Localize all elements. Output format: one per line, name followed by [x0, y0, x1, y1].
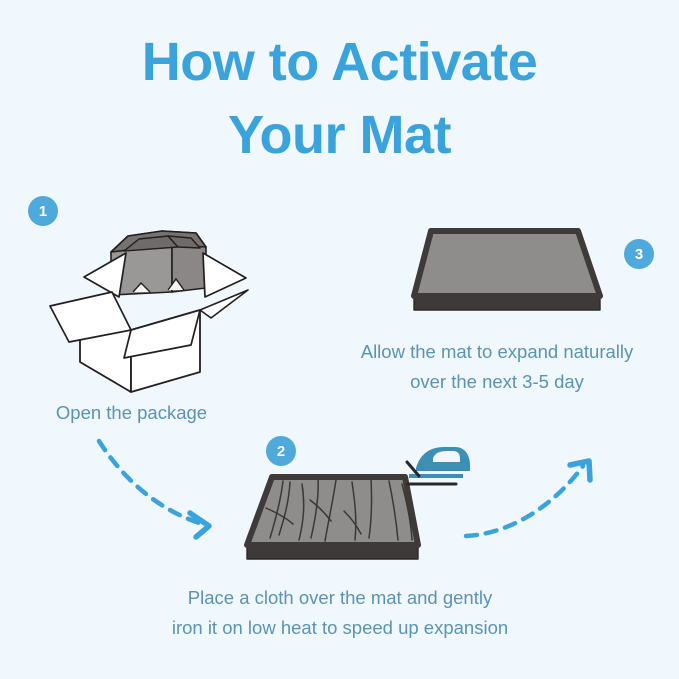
- wrinkled-mat-thickness: [247, 545, 418, 559]
- step-badge-1: 1: [28, 196, 58, 226]
- box-flap-front-left: [50, 292, 131, 342]
- step-2-caption-line-2: iron it on low heat to speed up expansio…: [120, 613, 560, 643]
- rolled-mat-in-box: [111, 231, 206, 295]
- step-badge-3: 3: [624, 239, 654, 269]
- step-3-caption-line-1: Allow the mat to expand naturally: [327, 337, 667, 367]
- flat-mat-illustration: [414, 231, 600, 310]
- mat-wrinkle-lines: [266, 479, 412, 541]
- wrinkled-mat-illustration: [247, 477, 418, 559]
- page-title-line-2: Your Mat: [0, 99, 679, 172]
- step-badge-2: 2: [266, 436, 296, 466]
- box-flap-right-edge: [200, 290, 248, 318]
- step-3-caption: Allow the mat to expand naturally over t…: [327, 337, 667, 397]
- flat-mat-thickness: [414, 296, 600, 310]
- box-flap-back-right: [203, 253, 246, 297]
- step-2-caption: Place a cloth over the mat and gently ir…: [120, 583, 560, 643]
- page-title-line-1: How to Activate: [0, 26, 679, 99]
- open-box-illustration: [50, 231, 248, 392]
- box-flap-front-right: [124, 310, 200, 358]
- box-flap-back-left: [84, 253, 126, 297]
- dashed-curved-arrow-down-right: [99, 441, 209, 537]
- flat-mat-top: [414, 231, 600, 296]
- infographic-root: How to Activate Your Mat: [0, 0, 679, 679]
- step-2-caption-line-1: Place a cloth over the mat and gently: [120, 583, 560, 613]
- step-1-caption-line-1: Open the package: [0, 398, 263, 428]
- box-side-front: [131, 310, 200, 392]
- step-1-caption: Open the package: [0, 398, 263, 428]
- box-side-left: [80, 300, 131, 392]
- dashed-curved-arrow-up-right: [466, 461, 590, 536]
- wrinkled-mat-top: [247, 477, 418, 545]
- page-title: How to Activate Your Mat: [0, 26, 679, 173]
- step-3-caption-line-2: over the next 3-5 day: [327, 367, 667, 397]
- iron-icon: [407, 447, 470, 484]
